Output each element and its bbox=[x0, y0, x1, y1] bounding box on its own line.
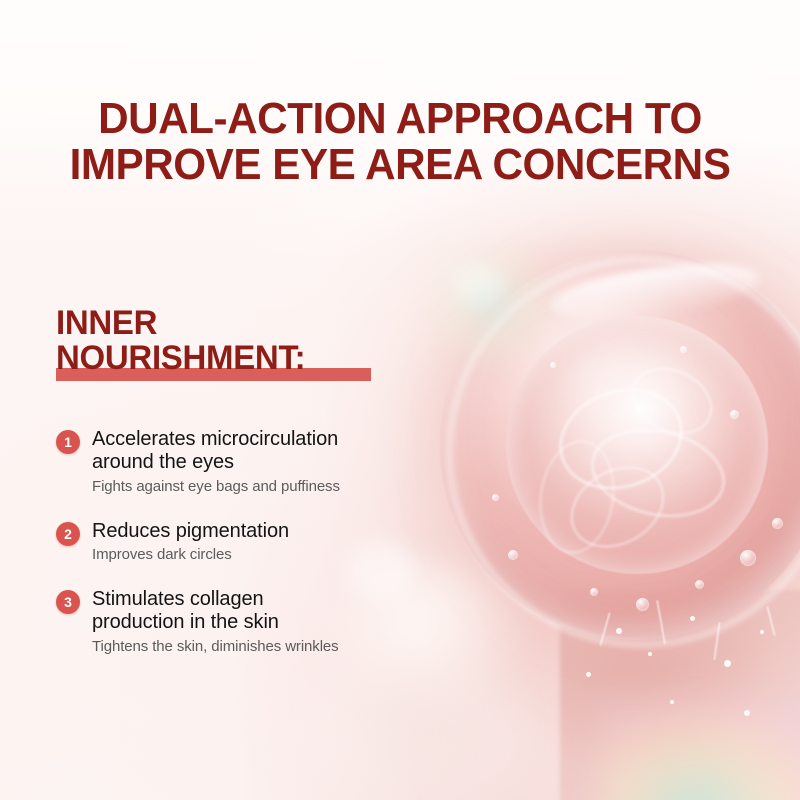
badge-number-3: 3 bbox=[56, 590, 80, 614]
benefit-title: Accelerates microcirculation around the … bbox=[92, 428, 426, 474]
water-speck bbox=[670, 700, 674, 704]
air-bubble bbox=[492, 494, 499, 501]
benefit-title: Stimulates collagen production in the sk… bbox=[92, 588, 426, 634]
section-heading-label: INNER NOURISHMENT: bbox=[56, 306, 305, 375]
prismatic-flare-upper bbox=[430, 250, 550, 360]
water-speck bbox=[744, 710, 750, 716]
water-speck bbox=[690, 616, 695, 621]
badge-number-2: 2 bbox=[56, 522, 80, 546]
air-bubble bbox=[590, 588, 598, 596]
benefit-title: Reduces pigmentation bbox=[92, 520, 426, 543]
air-bubble bbox=[550, 362, 556, 368]
list-item: 3 Stimulates collagen production in the … bbox=[56, 588, 426, 656]
product-infographic-banner: DUAL-ACTION APPROACH TO IMPROVE EYE AREA… bbox=[0, 0, 800, 800]
badge-number-1: 1 bbox=[56, 430, 80, 454]
section-heading-group: INNER NOURISHMENT: bbox=[56, 306, 313, 375]
water-speck bbox=[724, 660, 731, 667]
water-speck bbox=[648, 652, 652, 656]
prismatic-rainbow-flare bbox=[600, 700, 800, 800]
water-speck bbox=[586, 672, 591, 677]
list-item: 2 Reduces pigmentation Improves dark cir… bbox=[56, 520, 426, 565]
air-bubble bbox=[508, 550, 518, 560]
water-speck bbox=[616, 628, 622, 634]
air-bubble bbox=[730, 410, 739, 419]
benefit-subtitle: Fights against eye bags and puffiness bbox=[92, 478, 426, 496]
benefit-subtitle: Improves dark circles bbox=[92, 546, 426, 564]
page-title: DUAL-ACTION APPROACH TO IMPROVE EYE AREA… bbox=[16, 96, 784, 188]
air-bubble bbox=[680, 346, 687, 353]
list-item: 1 Accelerates microcirculation around th… bbox=[56, 428, 426, 496]
air-bubble bbox=[695, 580, 704, 589]
air-bubble bbox=[740, 550, 756, 566]
air-bubble bbox=[772, 518, 783, 529]
air-bubble bbox=[636, 598, 649, 611]
water-speck bbox=[760, 630, 764, 634]
benefit-subtitle: Tightens the skin, diminishes wrinkles bbox=[92, 638, 426, 656]
benefits-list: 1 Accelerates microcirculation around th… bbox=[56, 428, 426, 656]
